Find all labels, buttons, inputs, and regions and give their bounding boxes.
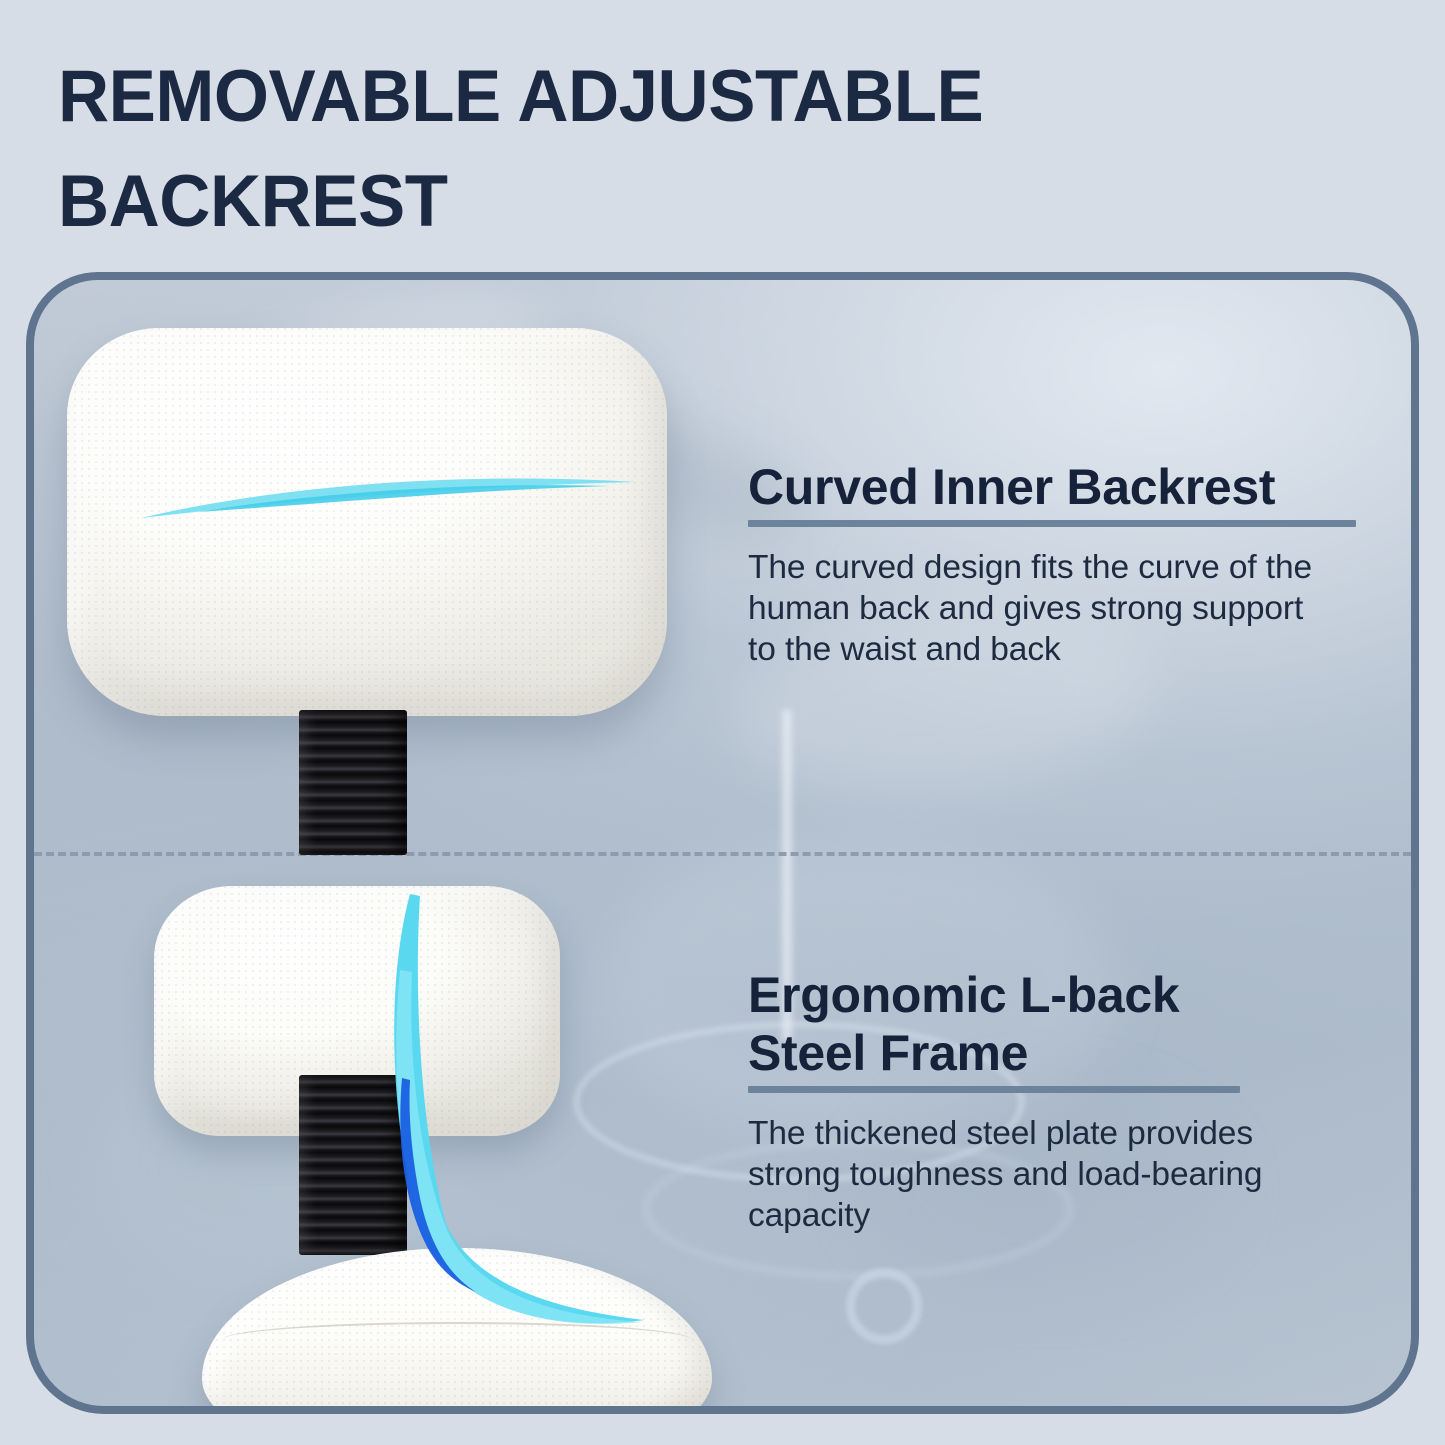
ribbed-adjustment-post-upper: [299, 710, 407, 855]
page-title: REMOVABLE ADJUSTABLE BACKREST: [58, 44, 1222, 254]
feature-heading: Ergonomic L-back Steel Frame: [748, 966, 1360, 1082]
seat-seam-line: [222, 1322, 691, 1358]
leather-texture: [202, 1248, 712, 1414]
feature-block-ergonomic-l-back-steel-frame: Ergonomic L-back Steel Frame The thicken…: [748, 966, 1360, 1236]
product-feature-panel: [26, 272, 1419, 1414]
feature-body-text: The curved design fits the curve of the …: [748, 547, 1360, 670]
feature-block-curved-inner-backrest: Curved Inner Backrest The curved design …: [748, 458, 1360, 670]
ghost-chair-caster: [846, 1268, 922, 1344]
feature-heading: Curved Inner Backrest: [748, 458, 1360, 516]
heading-underline-rule: [748, 1086, 1240, 1093]
ribbed-adjustment-post-lower: [299, 1075, 407, 1255]
seat-cushion: [202, 1248, 712, 1414]
backrest-cushion-upper: [67, 328, 667, 716]
section-divider: [34, 852, 1411, 856]
feature-body-text: The thickened steel plate provides stron…: [748, 1113, 1360, 1236]
leather-texture: [67, 328, 667, 716]
heading-underline-rule: [748, 520, 1356, 527]
